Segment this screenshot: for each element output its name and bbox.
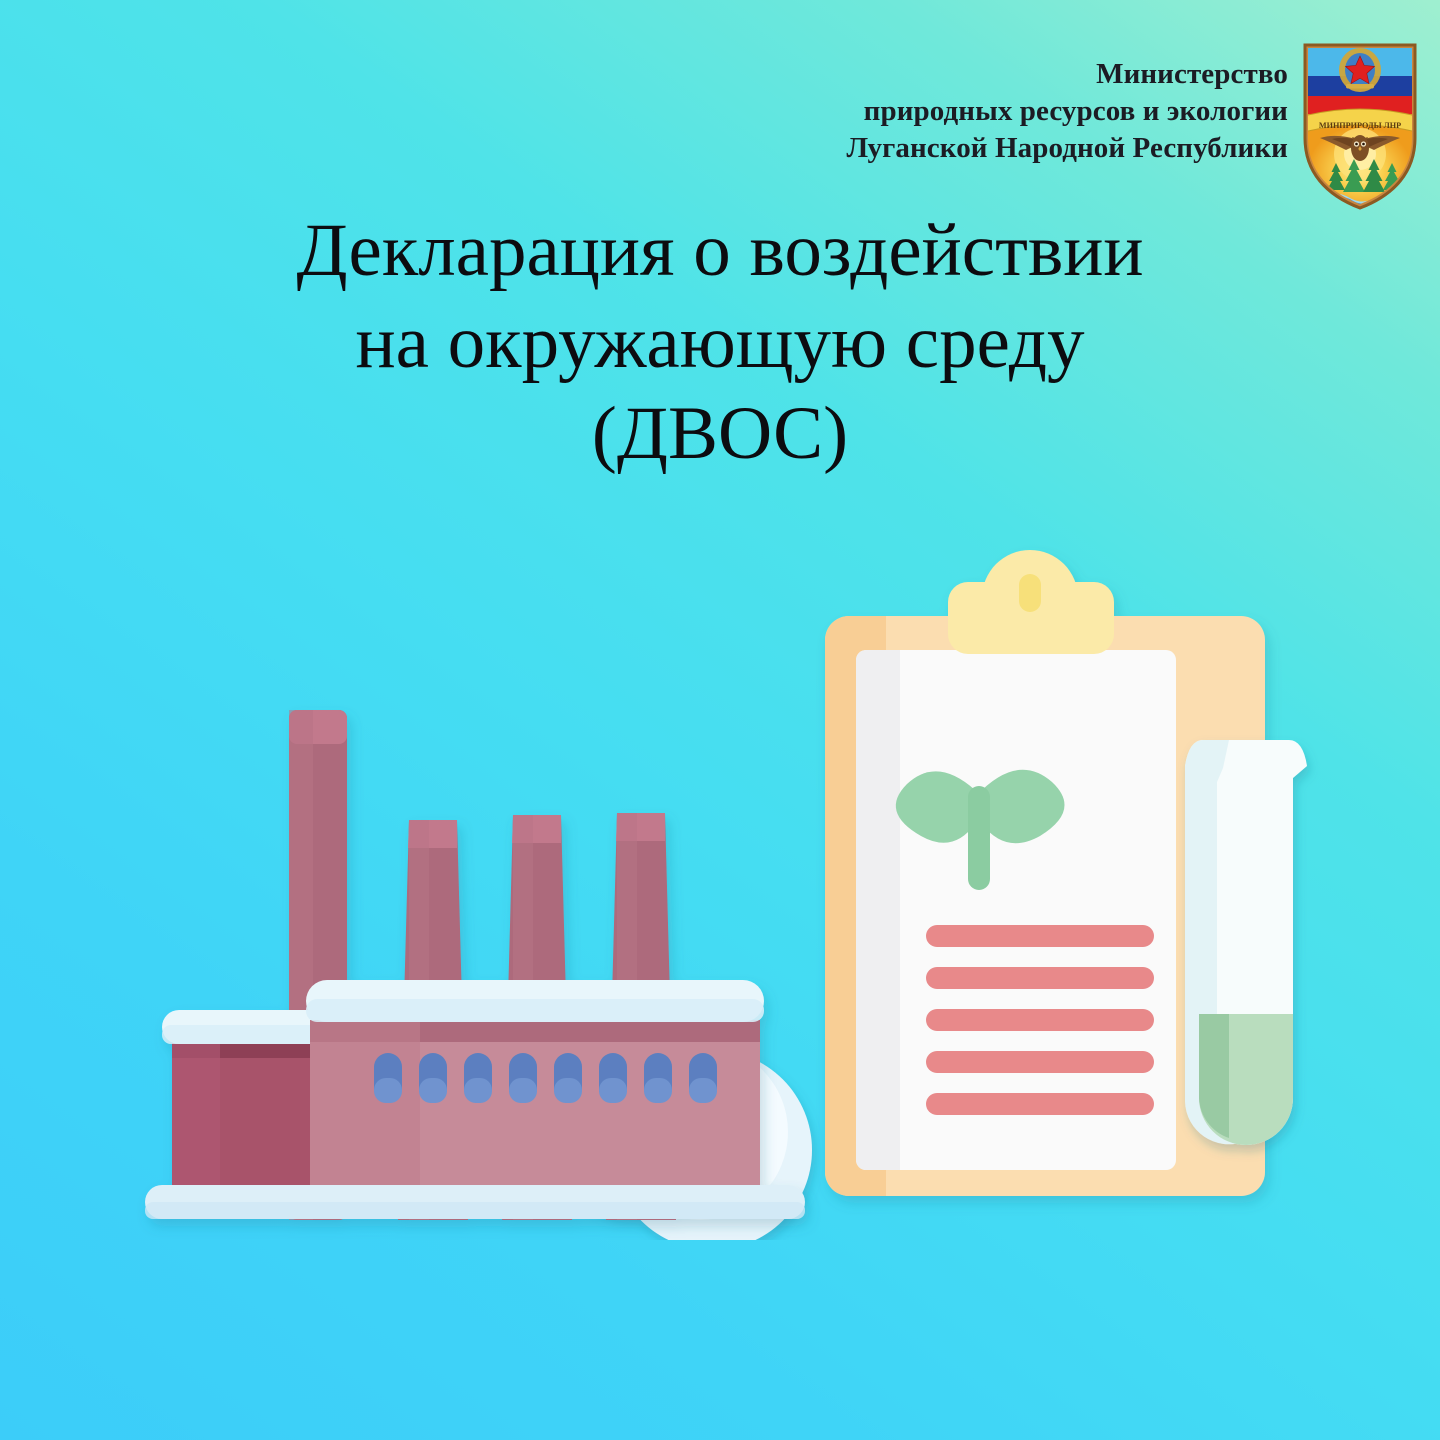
- page-title-line-3: (ДВОС): [0, 388, 1440, 480]
- factory-window: [689, 1053, 717, 1103]
- lnr-coat-of-arms: [1339, 48, 1381, 92]
- poster-canvas: Министерство природных ресурсов и эколог…: [0, 0, 1440, 1440]
- shield-field: МИНПРИРОДЫ ЛНР: [1302, 42, 1418, 210]
- factory-window: [374, 1053, 402, 1103]
- clipboard-text-line: [926, 1051, 1154, 1073]
- clipboard-clip: [948, 550, 1114, 654]
- factory-ground-shade: [145, 1202, 805, 1219]
- page-title: Декларация о воздействии на окружающую с…: [0, 205, 1440, 480]
- factory-side-building: [162, 1010, 328, 1190]
- clipboard-paper: [856, 650, 1176, 1170]
- ministry-name-line-3: Луганской Народной Республики: [847, 130, 1288, 167]
- clipboard-clip-slot: [1019, 574, 1041, 612]
- ministry-emblem-icon: МИНПРИРОДЫ ЛНР: [1302, 42, 1418, 210]
- clipboard-paper-shade: [856, 650, 900, 1170]
- factory-window: [554, 1053, 582, 1103]
- factory-illustration: [145, 710, 805, 1220]
- illustration-svg: [0, 520, 1440, 1240]
- page-title-line-1: Декларация о воздействии: [0, 205, 1440, 297]
- ministry-name-line-2: природных ресурсов и экологии: [847, 93, 1288, 130]
- factory-window: [464, 1053, 492, 1103]
- factory-window: [599, 1053, 627, 1103]
- clipboard-text-line: [926, 1093, 1154, 1115]
- factory-window: [509, 1053, 537, 1103]
- test-tube: [1185, 740, 1307, 1145]
- clipboard-text-line: [926, 967, 1154, 989]
- factory-window: [419, 1053, 447, 1103]
- factory-window: [644, 1053, 672, 1103]
- ministry-name-line-1: Министерство: [847, 56, 1288, 93]
- clipboard-text-line: [926, 1009, 1154, 1031]
- page-title-line-2: на окружающую среду: [0, 297, 1440, 389]
- ministry-header: Министерство природных ресурсов и эколог…: [847, 42, 1418, 210]
- main-illustration: [0, 520, 1440, 1240]
- clipboard-text-line: [926, 925, 1154, 947]
- ministry-name: Министерство природных ресурсов и эколог…: [847, 42, 1288, 166]
